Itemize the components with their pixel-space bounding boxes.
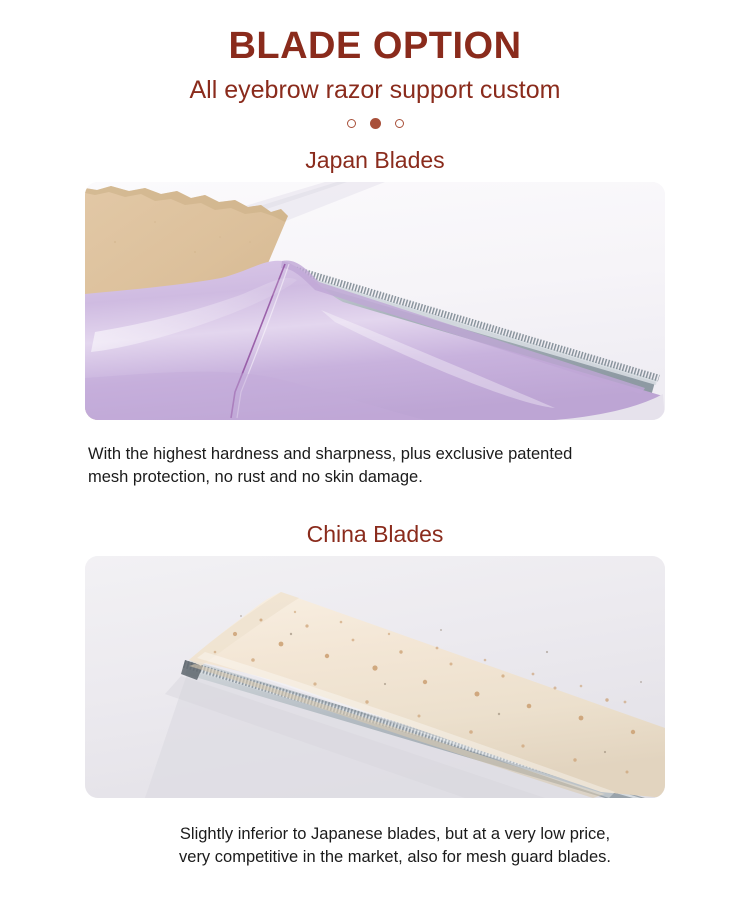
japan-blade-illustration xyxy=(85,182,665,420)
section-heading-china-blades: China Blades xyxy=(0,520,750,548)
pager-dot-1[interactable] xyxy=(347,119,356,128)
caption-japan-blades: With the highest hardness and sharpness,… xyxy=(88,443,702,489)
product-photo-china-blades xyxy=(85,556,665,798)
caption-china-blades: Slightly inferior to Japanese blades, bu… xyxy=(88,823,702,869)
page-subtitle: All eyebrow razor support custom xyxy=(0,75,750,105)
page-title: BLADE OPTION xyxy=(0,24,750,68)
blade-option-page: BLADE OPTION All eyebrow razor support c… xyxy=(0,0,750,901)
china-blade-illustration xyxy=(85,556,665,798)
product-photo-japan-blades xyxy=(85,182,665,420)
pager-dots xyxy=(0,118,750,129)
pager-dot-3[interactable] xyxy=(395,119,404,128)
pager-dot-2[interactable] xyxy=(370,118,381,129)
section-heading-japan-blades: Japan Blades xyxy=(0,146,750,174)
